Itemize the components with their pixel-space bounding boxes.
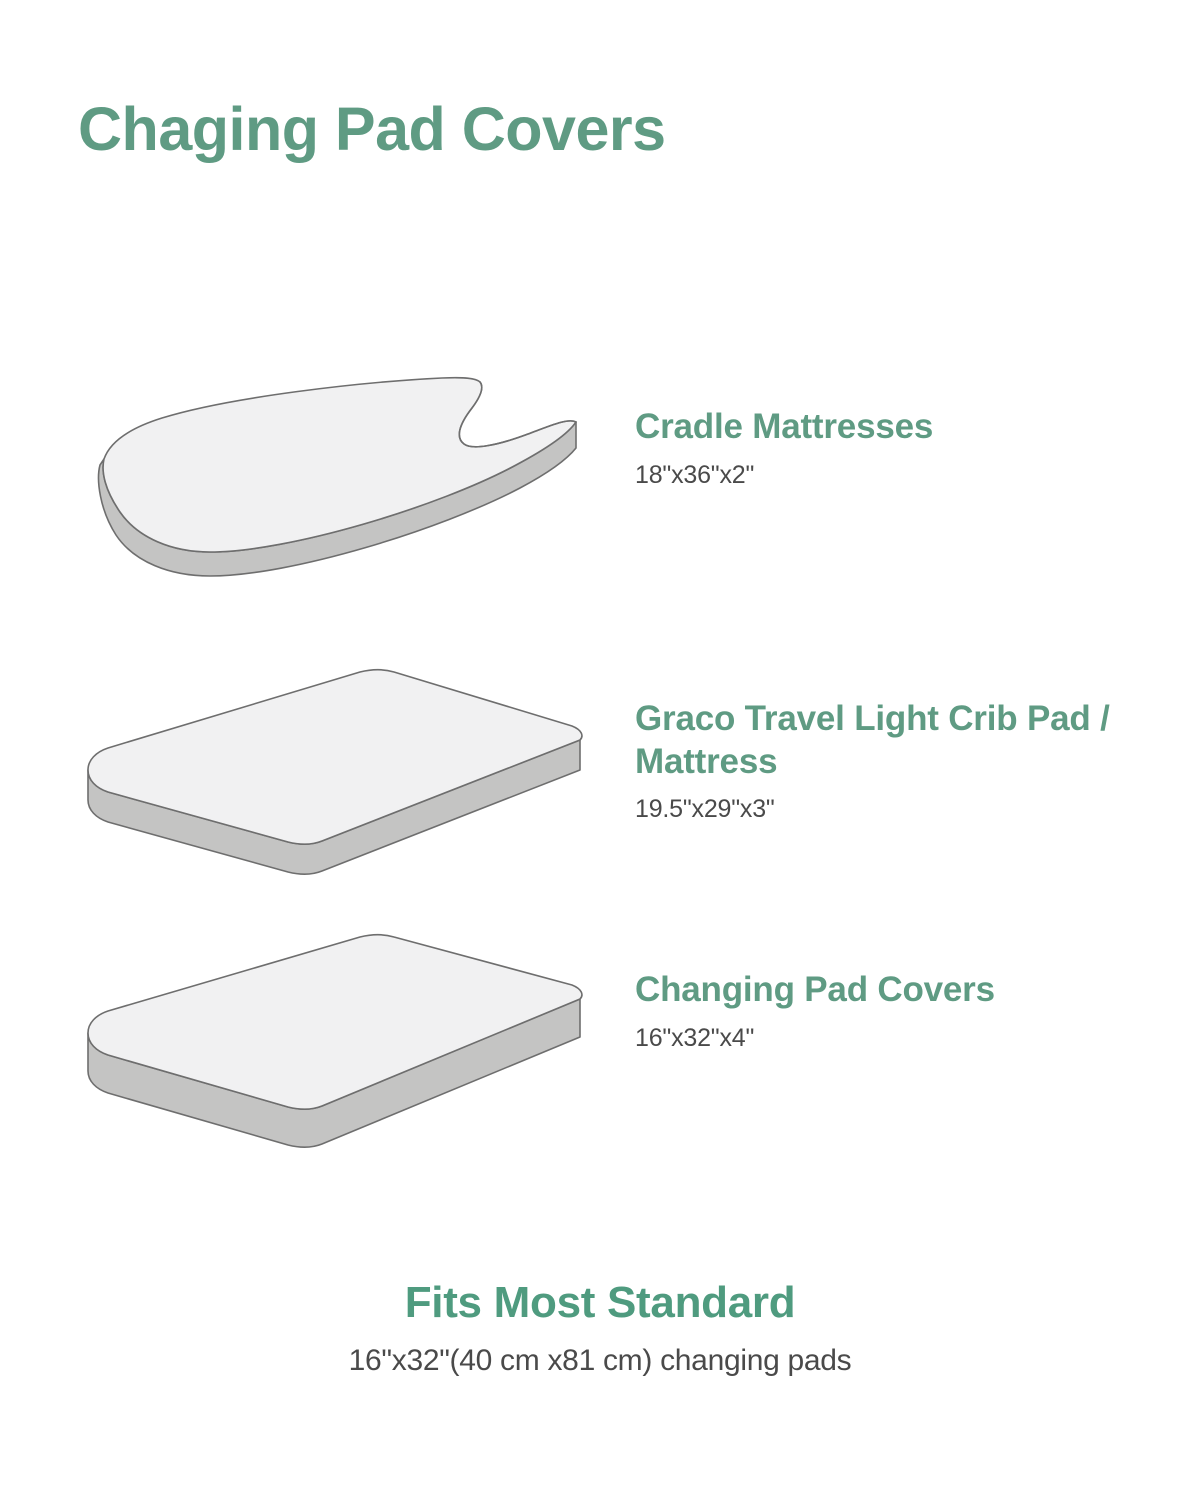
product-row: Changing Pad Covers 16"x32"x4" (0, 925, 1200, 1175)
footer-headline: Fits Most Standard (0, 1278, 1200, 1329)
footer-subtext: 16"x32"(40 cm x81 cm) changing pads (0, 1343, 1200, 1379)
footer: Fits Most Standard 16"x32"(40 cm x81 cm)… (0, 1278, 1200, 1379)
product-name: Changing Pad Covers (635, 969, 1165, 1012)
flat-mattress-thick-illustration (60, 925, 620, 1175)
product-row: Graco Travel Light Crib Pad / Mattress 1… (0, 660, 1200, 910)
product-name: Graco Travel Light Crib Pad / Mattress (635, 698, 1165, 783)
product-dimensions: 16"x32"x4" (635, 1022, 1165, 1055)
product-dimensions: 19.5"x29"x3" (635, 793, 1165, 826)
product-row: Cradle Mattresses 18"x36"x2" (0, 360, 1200, 610)
flat-mattress-thin-illustration (60, 660, 620, 910)
product-dimensions: 18"x36"x2" (635, 459, 1165, 492)
product-info: Changing Pad Covers 16"x32"x4" (635, 969, 1165, 1054)
product-info: Cradle Mattresses 18"x36"x2" (635, 406, 1165, 491)
product-name: Cradle Mattresses (635, 406, 1165, 449)
contoured-changing-pad-illustration (60, 360, 620, 610)
product-list: Cradle Mattresses 18"x36"x2" Graco Trave… (0, 0, 1200, 1500)
product-info: Graco Travel Light Crib Pad / Mattress 1… (635, 698, 1165, 826)
